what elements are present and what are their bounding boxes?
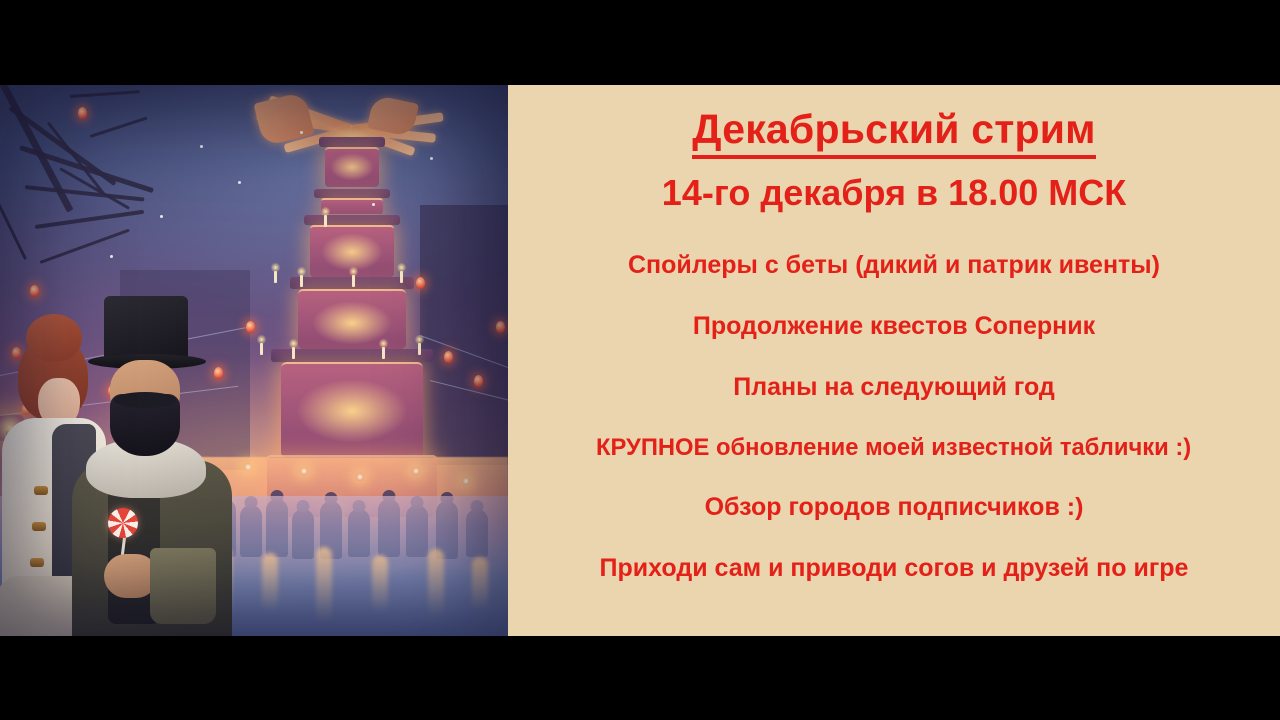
stream-title: Декабрьский стрим (692, 107, 1095, 159)
letterbox-top (0, 0, 1280, 85)
top-hat-icon (104, 296, 188, 360)
announcement-panel: Декабрьский стрим 14-го декабря в 18.00 … (508, 85, 1280, 636)
agenda-item: Спойлеры с беты (дикий и патрик ивенты) (628, 251, 1160, 280)
couple-foreground (0, 156, 240, 636)
man-satchel (150, 548, 216, 624)
stream-datetime: 14-го декабря в 18.00 МСК (662, 172, 1126, 213)
agenda-item: Обзор городов подписчиков :) (705, 493, 1084, 522)
lollipop-icon (108, 508, 138, 538)
slide-root: Декабрьский стрим 14-го декабря в 18.00 … (0, 0, 1280, 720)
woman-hair-bun (26, 314, 82, 362)
agenda-list: Спойлеры с беты (дикий и патрик ивенты) … (508, 235, 1280, 598)
artwork-panel (0, 85, 508, 636)
man-moustache (114, 392, 176, 408)
agenda-item: Продолжение квестов Соперник (693, 312, 1095, 341)
agenda-item: КРУПНОЕ обновление моей известной таблич… (596, 434, 1191, 462)
agenda-item: Приходи сам и приводи согов и друзей по … (600, 554, 1189, 583)
agenda-item: Планы на следующий год (733, 373, 1055, 402)
letterbox-bottom (0, 636, 1280, 720)
content-band: Декабрьский стрим 14-го декабря в 18.00 … (0, 85, 1280, 636)
